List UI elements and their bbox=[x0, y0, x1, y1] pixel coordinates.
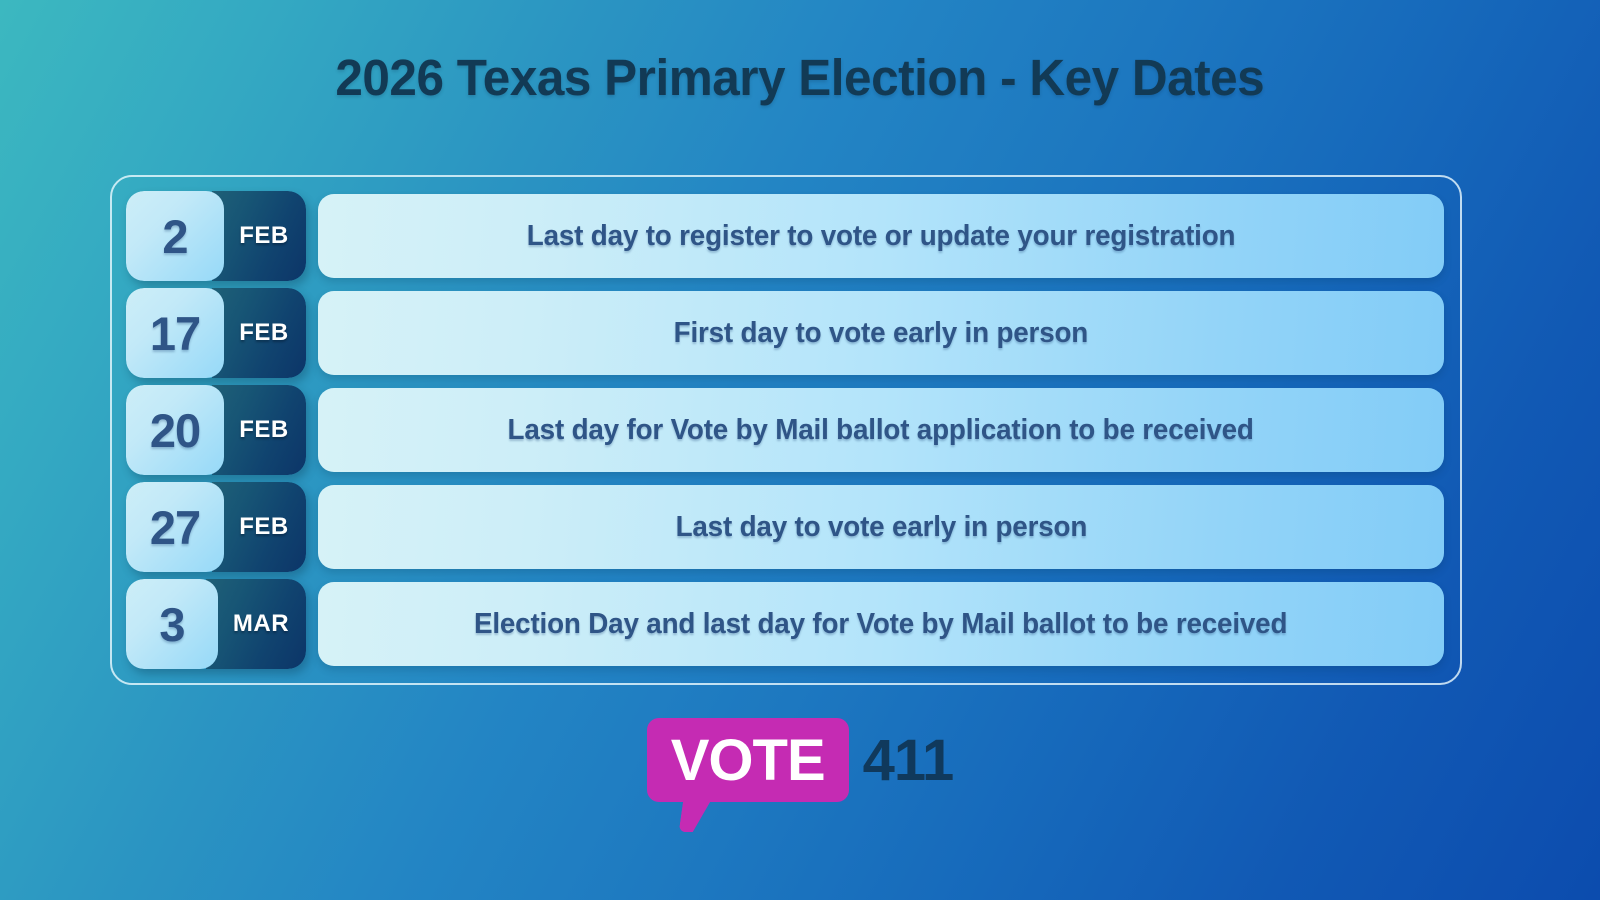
key-dates-card: 2 FEB Last day to register to vote or up… bbox=[110, 175, 1462, 685]
date-badge-month-label: MAR bbox=[233, 610, 289, 638]
date-badge: 3 MAR bbox=[126, 579, 306, 669]
timeline-description: Last day for Vote by Mail ballot applica… bbox=[318, 388, 1444, 472]
timeline-row: 20 FEB Last day for Vote by Mail ballot … bbox=[126, 385, 1444, 475]
date-badge-day-label: 20 bbox=[150, 407, 200, 454]
date-badge-month: FEB bbox=[212, 482, 306, 572]
date-badge-day: 2 bbox=[126, 191, 224, 281]
date-badge: 17 FEB bbox=[126, 288, 306, 378]
date-badge: 27 FEB bbox=[126, 482, 306, 572]
date-badge-day-label: 27 bbox=[150, 504, 200, 551]
timeline-description-label: Last day to register to vote or update y… bbox=[527, 220, 1236, 253]
date-badge-day: 27 bbox=[126, 482, 224, 572]
date-badge-month-label: FEB bbox=[239, 319, 289, 347]
date-badge-month-label: FEB bbox=[239, 222, 289, 250]
vote411-logo-inner: VOTE 411 bbox=[647, 718, 954, 802]
timeline-description-label: Last day to vote early in person bbox=[675, 511, 1087, 544]
date-badge-month: FEB bbox=[212, 385, 306, 475]
date-badge-day: 17 bbox=[126, 288, 224, 378]
date-badge-day-label: 17 bbox=[150, 310, 200, 357]
date-badge-month: FEB bbox=[212, 191, 306, 281]
vote-wordmark: VOTE bbox=[671, 728, 825, 793]
timeline-row: 17 FEB First day to vote early in person bbox=[126, 288, 1444, 378]
timeline-description-label: Last day for Vote by Mail ballot applica… bbox=[508, 414, 1254, 447]
timeline-description: Last day to register to vote or update y… bbox=[318, 194, 1444, 278]
timeline-row: 3 MAR Election Day and last day for Vote… bbox=[126, 579, 1444, 669]
date-badge-day: 3 bbox=[126, 579, 218, 669]
date-badge: 2 FEB bbox=[126, 191, 306, 281]
timeline-row: 2 FEB Last day to register to vote or up… bbox=[126, 191, 1444, 281]
date-badge-month: MAR bbox=[206, 579, 306, 669]
speech-bubble-icon: VOTE bbox=[647, 718, 849, 802]
date-badge-day-label: 3 bbox=[159, 601, 184, 648]
date-badge-month-label: FEB bbox=[239, 416, 289, 444]
date-badge: 20 FEB bbox=[126, 385, 306, 475]
speech-bubble-tail-icon bbox=[679, 800, 711, 832]
date-badge-month: FEB bbox=[212, 288, 306, 378]
timeline-row: 27 FEB Last day to vote early in person bbox=[126, 482, 1444, 572]
page-header: 2026 Texas Primary Election - Key Dates bbox=[0, 0, 1600, 107]
date-badge-day-label: 2 bbox=[162, 213, 187, 260]
vote411-logo: VOTE 411 bbox=[0, 718, 1600, 802]
timeline-description: Election Day and last day for Vote by Ma… bbox=[318, 582, 1444, 666]
page-title: 2026 Texas Primary Election - Key Dates bbox=[336, 48, 1265, 107]
timeline-description: First day to vote early in person bbox=[318, 291, 1444, 375]
date-badge-month-label: FEB bbox=[239, 513, 289, 541]
timeline-description-label: First day to vote early in person bbox=[674, 317, 1088, 350]
logo-number: 411 bbox=[863, 732, 954, 790]
date-badge-day: 20 bbox=[126, 385, 224, 475]
timeline-description: Last day to vote early in person bbox=[318, 485, 1444, 569]
timeline-description-label: Election Day and last day for Vote by Ma… bbox=[474, 608, 1287, 641]
